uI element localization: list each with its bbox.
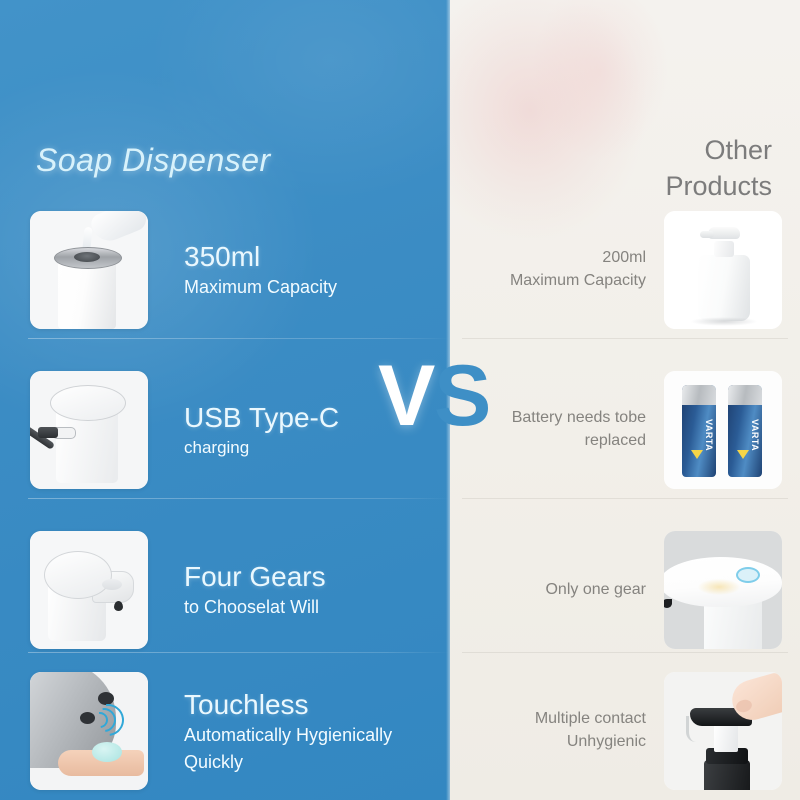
left-feature-subtitle: Automatically Hygienically <box>184 724 392 747</box>
led-indicator-icon <box>736 567 760 583</box>
battery-cell: VARTA HIGH ENERGY <box>682 385 716 477</box>
left-feature-title: Touchless <box>184 689 392 720</box>
right-feature-text: Battery needs tobe replaced <box>512 407 646 452</box>
left-feature-title: USB Type-C <box>184 402 339 433</box>
single-gear-dispenser-illustration <box>664 531 782 649</box>
battery-cell: VARTA HIGH ENERGY <box>728 385 762 477</box>
left-feature-subtitle: Maximum Capacity <box>184 276 337 299</box>
left-feature-text: Four Gears to Chooselat Will <box>184 561 326 619</box>
touchless-illustration <box>30 672 148 790</box>
left-feature-text: USB Type-C charging <box>184 402 339 459</box>
right-feature-row-gears: Only one gear <box>450 510 800 670</box>
right-feature-row-hygiene: Multiple contact Unhygienic <box>450 662 800 800</box>
product-comparison-poster: Soap Dispenser 350ml Maximum Capacity <box>0 0 800 800</box>
touchless-hand-photo <box>30 672 148 790</box>
hand-pressing-pump-photo <box>664 672 782 790</box>
right-feature-text: Only one gear <box>545 579 646 602</box>
manual-pump-bottle-illustration <box>664 211 782 329</box>
left-feature-text: Touchless Automatically Hygienically Qui… <box>184 689 392 774</box>
left-feature-text: 350ml Maximum Capacity <box>184 241 337 299</box>
right-feature-line2: Unhygienic <box>535 731 646 754</box>
four-gears-dispenser-photo <box>30 531 148 649</box>
usb-charging-photo <box>30 371 148 489</box>
single-gear-dispenser-photo <box>664 531 782 649</box>
right-feature-line1: 200ml <box>510 247 646 270</box>
right-feature-text: Multiple contact Unhygienic <box>535 708 646 753</box>
right-feature-line2: Maximum Capacity <box>510 270 646 293</box>
left-feature-title: Four Gears <box>184 561 326 592</box>
left-feature-title: 350ml <box>184 241 337 272</box>
right-feature-line1: Only one gear <box>545 579 646 602</box>
versus-badge: V S <box>378 352 528 442</box>
left-panel-headline: Soap Dispenser <box>36 142 271 179</box>
battery-brand-label: VARTA <box>704 419 714 449</box>
four-gears-dispenser-illustration <box>30 531 148 649</box>
hand-pressing-pump-illustration <box>664 672 782 790</box>
left-feature-row-touchless: Touchless Automatically Hygienically Qui… <box>0 662 450 800</box>
left-feature-subtitle: to Chooselat Will <box>184 596 326 619</box>
versus-v-letter: V <box>378 352 433 440</box>
refill-dispenser-photo <box>30 211 148 329</box>
refill-dispenser-illustration <box>30 211 148 329</box>
right-feature-row-capacity: 200ml Maximum Capacity <box>450 190 800 350</box>
manual-pump-bottle-photo <box>664 211 782 329</box>
left-feature-subtitle: charging <box>184 437 339 458</box>
versus-s-letter: S <box>434 352 489 440</box>
usb-charging-illustration <box>30 371 148 489</box>
battery-brand-label: VARTA <box>750 419 760 449</box>
right-feature-line1: Battery needs tobe <box>512 407 646 430</box>
left-feature-row-gears: Four Gears to Chooselat Will <box>0 510 450 670</box>
left-feature-subtitle-2: Quickly <box>184 751 392 774</box>
right-feature-line2: replaced <box>512 430 646 453</box>
right-feature-line1: Multiple contact <box>535 708 646 731</box>
varta-batteries-photo: VARTA HIGH ENERGY VARTA HIGH ENERGY <box>664 371 782 489</box>
varta-batteries-illustration: VARTA HIGH ENERGY VARTA HIGH ENERGY <box>664 371 782 489</box>
right-feature-text: 200ml Maximum Capacity <box>510 247 646 292</box>
left-feature-row-capacity: 350ml Maximum Capacity <box>0 190 450 350</box>
right-panel-headline-line1: Other <box>522 132 772 168</box>
